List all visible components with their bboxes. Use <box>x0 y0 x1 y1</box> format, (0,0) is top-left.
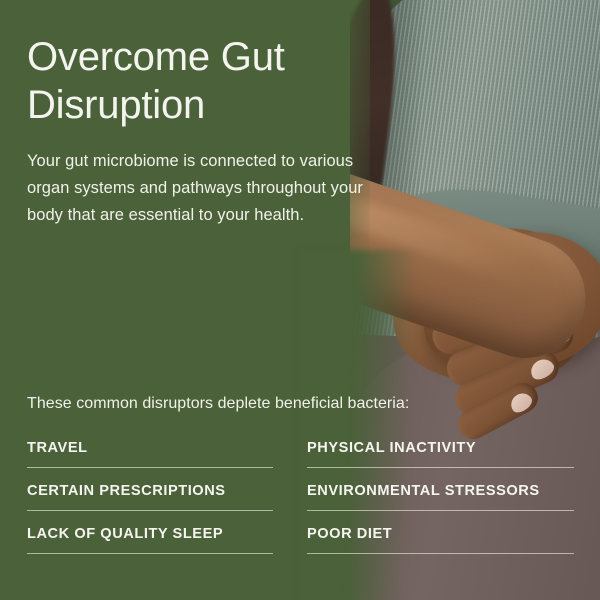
subheading-copy: Your gut microbiome is connected to vari… <box>27 148 377 229</box>
poster-content: Overcome Gut Disruption Your gut microbi… <box>0 0 600 600</box>
page-title: Overcome Gut Disruption <box>27 33 407 129</box>
list-item: LACK OF QUALITY SLEEP <box>27 526 273 554</box>
disruptors-intro-label: These common disruptors deplete benefici… <box>27 395 409 413</box>
gut-health-promo-poster: Overcome Gut Disruption Your gut microbi… <box>0 0 600 600</box>
disruptors-lists: TRAVEL CERTAIN PRESCRIPTIONS LACK OF QUA… <box>27 440 574 554</box>
list-item: TRAVEL <box>27 440 273 468</box>
list-item: ENVIRONMENTAL STRESSORS <box>307 483 574 511</box>
list-item: PHYSICAL INACTIVITY <box>307 440 574 468</box>
list-item: POOR DIET <box>307 526 574 554</box>
disruptors-right-column: PHYSICAL INACTIVITY ENVIRONMENTAL STRESS… <box>307 440 574 554</box>
disruptors-left-column: TRAVEL CERTAIN PRESCRIPTIONS LACK OF QUA… <box>27 440 273 554</box>
list-item: CERTAIN PRESCRIPTIONS <box>27 483 273 511</box>
